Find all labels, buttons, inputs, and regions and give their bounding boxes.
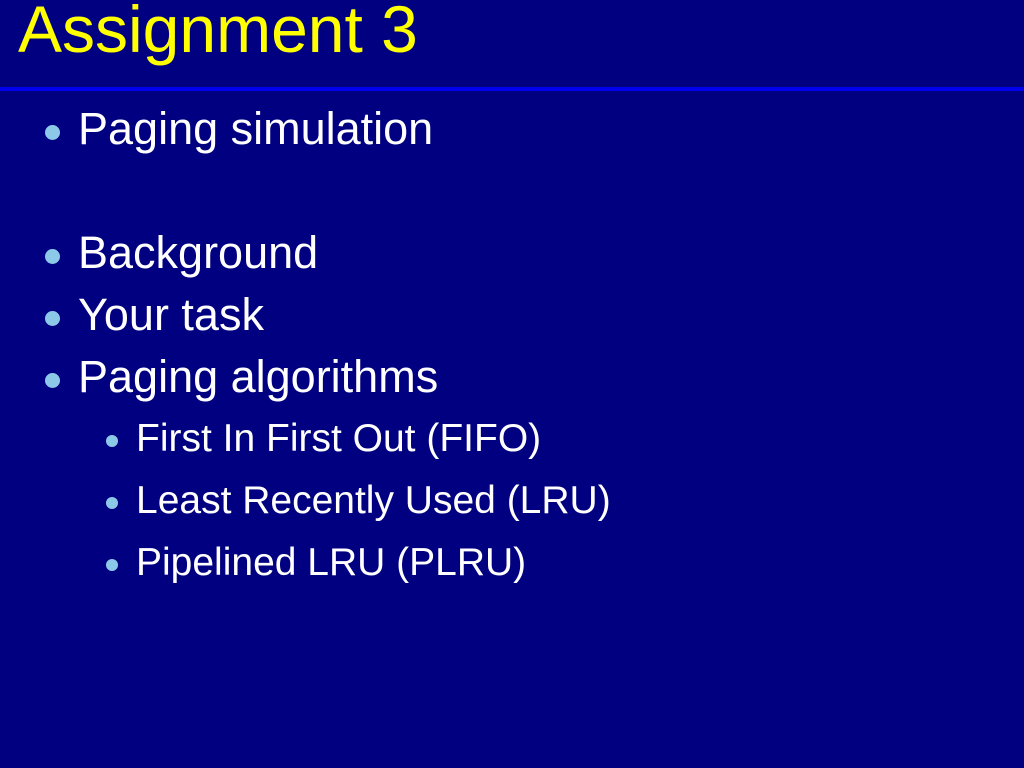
list-item-label: Background: [78, 223, 318, 283]
list-item: Paging algorithms: [0, 347, 1024, 409]
sub-list-item: Least Recently Used (LRU): [0, 471, 1024, 533]
presentation-slide: Assignment 3 Paging simulation Backgroun…: [0, 0, 1024, 768]
disc-bullet-icon: [45, 311, 60, 326]
disc-bullet-icon: [45, 373, 60, 388]
slide-title-area: Assignment 3: [0, 0, 1024, 88]
list-item-label: Paging simulation: [78, 99, 433, 159]
sub-list-item-label: Least Recently Used (LRU): [136, 471, 611, 531]
slide-body-content: Paging simulation Background Your task P…: [0, 99, 1024, 768]
sub-list-item: Pipelined LRU (PLRU): [0, 533, 1024, 595]
list-item-label: Your task: [78, 285, 264, 345]
sub-list-item: First In First Out (FIFO): [0, 409, 1024, 471]
list-item-blank: [0, 161, 1024, 223]
list-item-label: Paging algorithms: [78, 347, 438, 407]
disc-bullet-icon: [45, 125, 60, 140]
sub-list-item-label: Pipelined LRU (PLRU): [136, 533, 526, 593]
disc-bullet-icon: [106, 497, 118, 509]
page-title: Assignment 3: [18, 0, 418, 62]
sub-list-item-label: First In First Out (FIFO): [136, 409, 541, 469]
list-item: Paging simulation: [0, 99, 1024, 161]
disc-bullet-icon: [45, 249, 60, 264]
list-item: Background: [0, 223, 1024, 285]
list-item: Your task: [0, 285, 1024, 347]
disc-bullet-icon: [106, 435, 118, 447]
title-divider-rule: [0, 87, 1024, 91]
disc-bullet-icon: [106, 559, 118, 571]
